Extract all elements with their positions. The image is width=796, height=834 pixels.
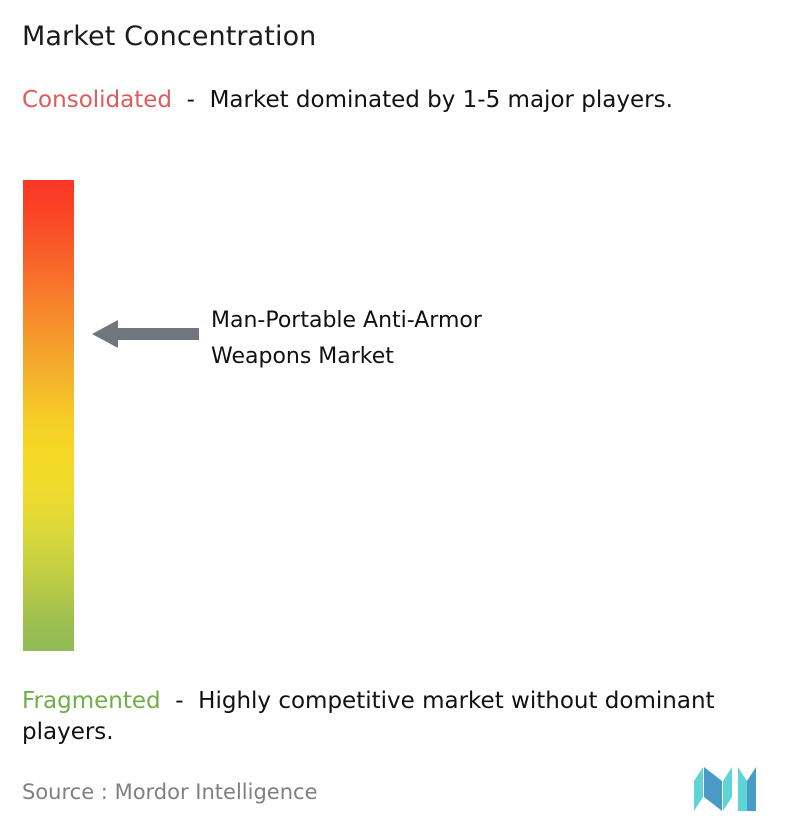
- mordor-intelligence-logo-icon: [694, 767, 756, 811]
- arrow-left-icon: [92, 318, 199, 350]
- legend-consolidated-description: Market dominated by 1-5 major players.: [210, 87, 673, 113]
- legend-consolidated-keyword: Consolidated: [22, 87, 172, 113]
- source-spacer: [108, 780, 115, 804]
- legend-consolidated-separator: -: [172, 87, 210, 113]
- source-attribution: Source : Mordor Intelligence: [22, 779, 317, 806]
- marker-callout-line-2: Weapons Market: [211, 339, 631, 375]
- legend-fragmented-keyword: Fragmented: [22, 688, 161, 714]
- legend-consolidated: Consolidated - Market dominated by 1-5 m…: [22, 85, 778, 116]
- source-label: Source :: [22, 780, 108, 804]
- legend-fragmented-separator: -: [161, 688, 199, 714]
- market-concentration-gradient-bar: [23, 180, 74, 651]
- source-name: Mordor Intelligence: [115, 780, 318, 804]
- marker-callout-line-1: Man-Portable Anti-Armor: [211, 303, 631, 339]
- marker-callout-label: Man-Portable Anti-Armor Weapons Market: [211, 303, 631, 375]
- page-title: Market Concentration: [22, 20, 762, 54]
- legend-fragmented: Fragmented - Highly competitive market w…: [22, 686, 790, 748]
